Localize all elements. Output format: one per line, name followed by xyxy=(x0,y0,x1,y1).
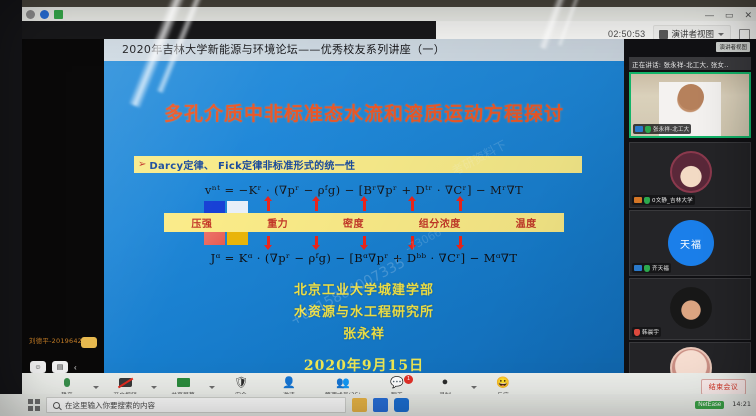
audio-options-chevron-icon[interactable] xyxy=(93,386,99,389)
windows-taskbar: 在这里输入你要搜索的内容 NetEase 14:21 xyxy=(0,394,756,416)
tray-icon-signal[interactable] xyxy=(54,10,63,19)
camera-off-icon xyxy=(119,376,132,389)
shared-slide: 2020年吉林大学新能源与环境论坛——优秀校友系列讲座（一） 多孔介质中非标准态… xyxy=(104,39,624,381)
participants-icon: 👥 xyxy=(337,376,350,389)
security-shield-icon[interactable] xyxy=(394,398,409,412)
participant-namebar: 0文静_吉林大学 xyxy=(632,195,695,205)
meeting-timer: 02:50:53 xyxy=(608,29,645,39)
avatar xyxy=(670,151,712,193)
participant-name: 齐天福 xyxy=(652,264,669,272)
microphone-muted-icon xyxy=(634,329,640,336)
participant-name: 张永祥-北工大 xyxy=(653,125,689,133)
microphone-icon xyxy=(644,197,650,204)
participant-namebar: 齐天福 xyxy=(632,263,671,273)
search-input[interactable]: 在这里输入你要搜索的内容 xyxy=(46,397,346,413)
slide-bullet-band: ➢ Darcy定律、 Fick定律非标准形式的统一性 xyxy=(134,156,582,173)
overlay-buttons[interactable]: ☺ ▤ ‹ xyxy=(30,361,77,373)
browser-icon[interactable] xyxy=(373,398,388,412)
monitor-bezel-top xyxy=(0,0,756,7)
term-label-density: 密度 xyxy=(343,215,364,230)
avatar xyxy=(670,287,712,329)
chat-unread-badge: 1 xyxy=(404,375,413,384)
term-label-concentration: 组分浓度 xyxy=(419,215,461,230)
participant-name: 0文静_吉林大学 xyxy=(652,196,693,204)
tray-icon-clock[interactable] xyxy=(26,10,35,19)
affiliation-line-2: 水资源与水工程研究所 xyxy=(104,301,624,320)
term-label-pressure: 压强 xyxy=(191,215,212,230)
zoom-window: — ▭ ✕ 02:50:53 演讲者视图 刘德平-2019642012 ☺ xyxy=(22,21,756,401)
close-button[interactable]: ✕ xyxy=(744,10,752,21)
video-on-icon xyxy=(635,126,643,132)
search-placeholder: 在这里输入你要搜索的内容 xyxy=(65,400,155,411)
term-label-gravity: 重力 xyxy=(267,215,288,230)
arrow-row-down xyxy=(104,236,624,248)
system-tray: NetEase 14:21 xyxy=(695,401,756,409)
shield-icon: 🛡 xyxy=(235,376,248,389)
search-icon xyxy=(53,402,60,409)
participant-namebar: 韩晨宇 xyxy=(632,327,661,337)
participant-tile[interactable]: 0文静_吉林大学 xyxy=(629,142,751,208)
emoji-button[interactable]: ☺ xyxy=(30,361,46,373)
keyboard-button[interactable]: ▤ xyxy=(52,361,68,373)
fullscreen-icon[interactable] xyxy=(739,29,750,40)
bullet-arrow-icon: ➢ xyxy=(138,159,146,170)
microphone-icon xyxy=(645,126,651,133)
overlay-chip xyxy=(81,337,97,348)
video-off-icon xyxy=(634,265,642,271)
record-options-chevron-icon[interactable] xyxy=(471,386,477,389)
participants-strip[interactable]: 演讲者视图 正在讲话: 张永祥-北工大, 张女.. 张永祥-北工大 xyxy=(624,39,756,381)
equation-2: Jᵅ = Kᵅ · (∇pʳ − ρᶠg) − [Bᵅ∇pʳ + Dᵇᵇ · ∇… xyxy=(104,251,624,265)
minimize-button[interactable]: — xyxy=(705,10,714,21)
tray-badge[interactable]: NetEase xyxy=(695,401,724,409)
share-screen-icon xyxy=(177,376,190,389)
presenter-name: 张永祥 xyxy=(104,323,624,342)
monitor-bezel-left xyxy=(0,0,22,416)
tray-icon-shield[interactable] xyxy=(40,10,49,19)
share-options-chevron-icon[interactable] xyxy=(209,386,215,389)
affiliation-line-1: 北京工业大学城建学部 xyxy=(104,279,624,298)
chat-icon: 💬 xyxy=(391,376,404,389)
layout-icon xyxy=(659,30,668,39)
participant-name: 韩晨宇 xyxy=(642,328,659,336)
start-button[interactable] xyxy=(28,399,40,411)
slide-date: 2020年9月15日 xyxy=(104,355,624,375)
participant-namebar: 张永祥-北工大 xyxy=(633,124,691,134)
participant-tile[interactable]: 韩晨宇 xyxy=(629,278,751,340)
microphone-icon xyxy=(61,376,74,389)
back-chevron-icon[interactable]: ‹ xyxy=(74,363,77,372)
term-label-band: 压强 重力 密度 组分浓度 温度 xyxy=(164,213,564,232)
active-speaker-banner: 正在讲话: 张永祥-北工大, 张女.. xyxy=(629,57,751,70)
end-meeting-button[interactable]: 结束会议 xyxy=(701,379,746,395)
file-explorer-icon[interactable] xyxy=(352,398,367,412)
invite-icon: 👤 xyxy=(283,376,296,389)
equation-1: vⁿᵗ = −Kʳ · (∇pʳ − ρᶠg) − [Bʳ∇pʳ + Dᵗʳ ·… xyxy=(104,183,624,197)
window-controls[interactable]: — ▭ ✕ xyxy=(705,10,752,21)
left-dark-overlay: 刘德平-2019642012 ☺ ▤ ‹ xyxy=(22,39,104,381)
participant-tile[interactable]: 天福 齐天福 xyxy=(629,210,751,276)
term-label-temperature: 温度 xyxy=(516,215,537,230)
video-head xyxy=(678,84,704,110)
os-top-strip xyxy=(22,7,756,21)
record-icon: ● xyxy=(439,376,452,389)
photo-of-screen: — ▭ ✕ 02:50:53 演讲者视图 刘德平-2019642012 ☺ xyxy=(0,0,756,416)
desktop: — ▭ ✕ 02:50:53 演讲者视图 刘德平-2019642012 ☺ xyxy=(22,7,756,416)
arrow-row-up xyxy=(104,199,624,211)
participant-tile[interactable]: 张永祥-北工大 xyxy=(629,72,751,138)
slide-main-title: 多孔介质中非标准态水流和溶质运动方程探讨 xyxy=(104,99,624,126)
microphone-icon xyxy=(644,265,650,272)
maximize-button[interactable]: ▭ xyxy=(725,10,734,21)
reactions-icon: 😀 xyxy=(497,376,510,389)
video-options-chevron-icon[interactable] xyxy=(151,386,157,389)
avatar-initial: 天福 xyxy=(668,220,714,266)
slide-bullet-text: Darcy定律、 Fick定律非标准形式的统一性 xyxy=(149,157,355,172)
strip-view-chip[interactable]: 演讲者视图 xyxy=(716,42,750,52)
slide-header-text: 2020年吉林大学新能源与环境论坛——优秀校友系列讲座（一） xyxy=(122,41,445,57)
video-off-icon xyxy=(634,197,642,203)
clock[interactable]: 14:21 xyxy=(732,401,751,408)
chevron-down-icon xyxy=(718,33,724,36)
